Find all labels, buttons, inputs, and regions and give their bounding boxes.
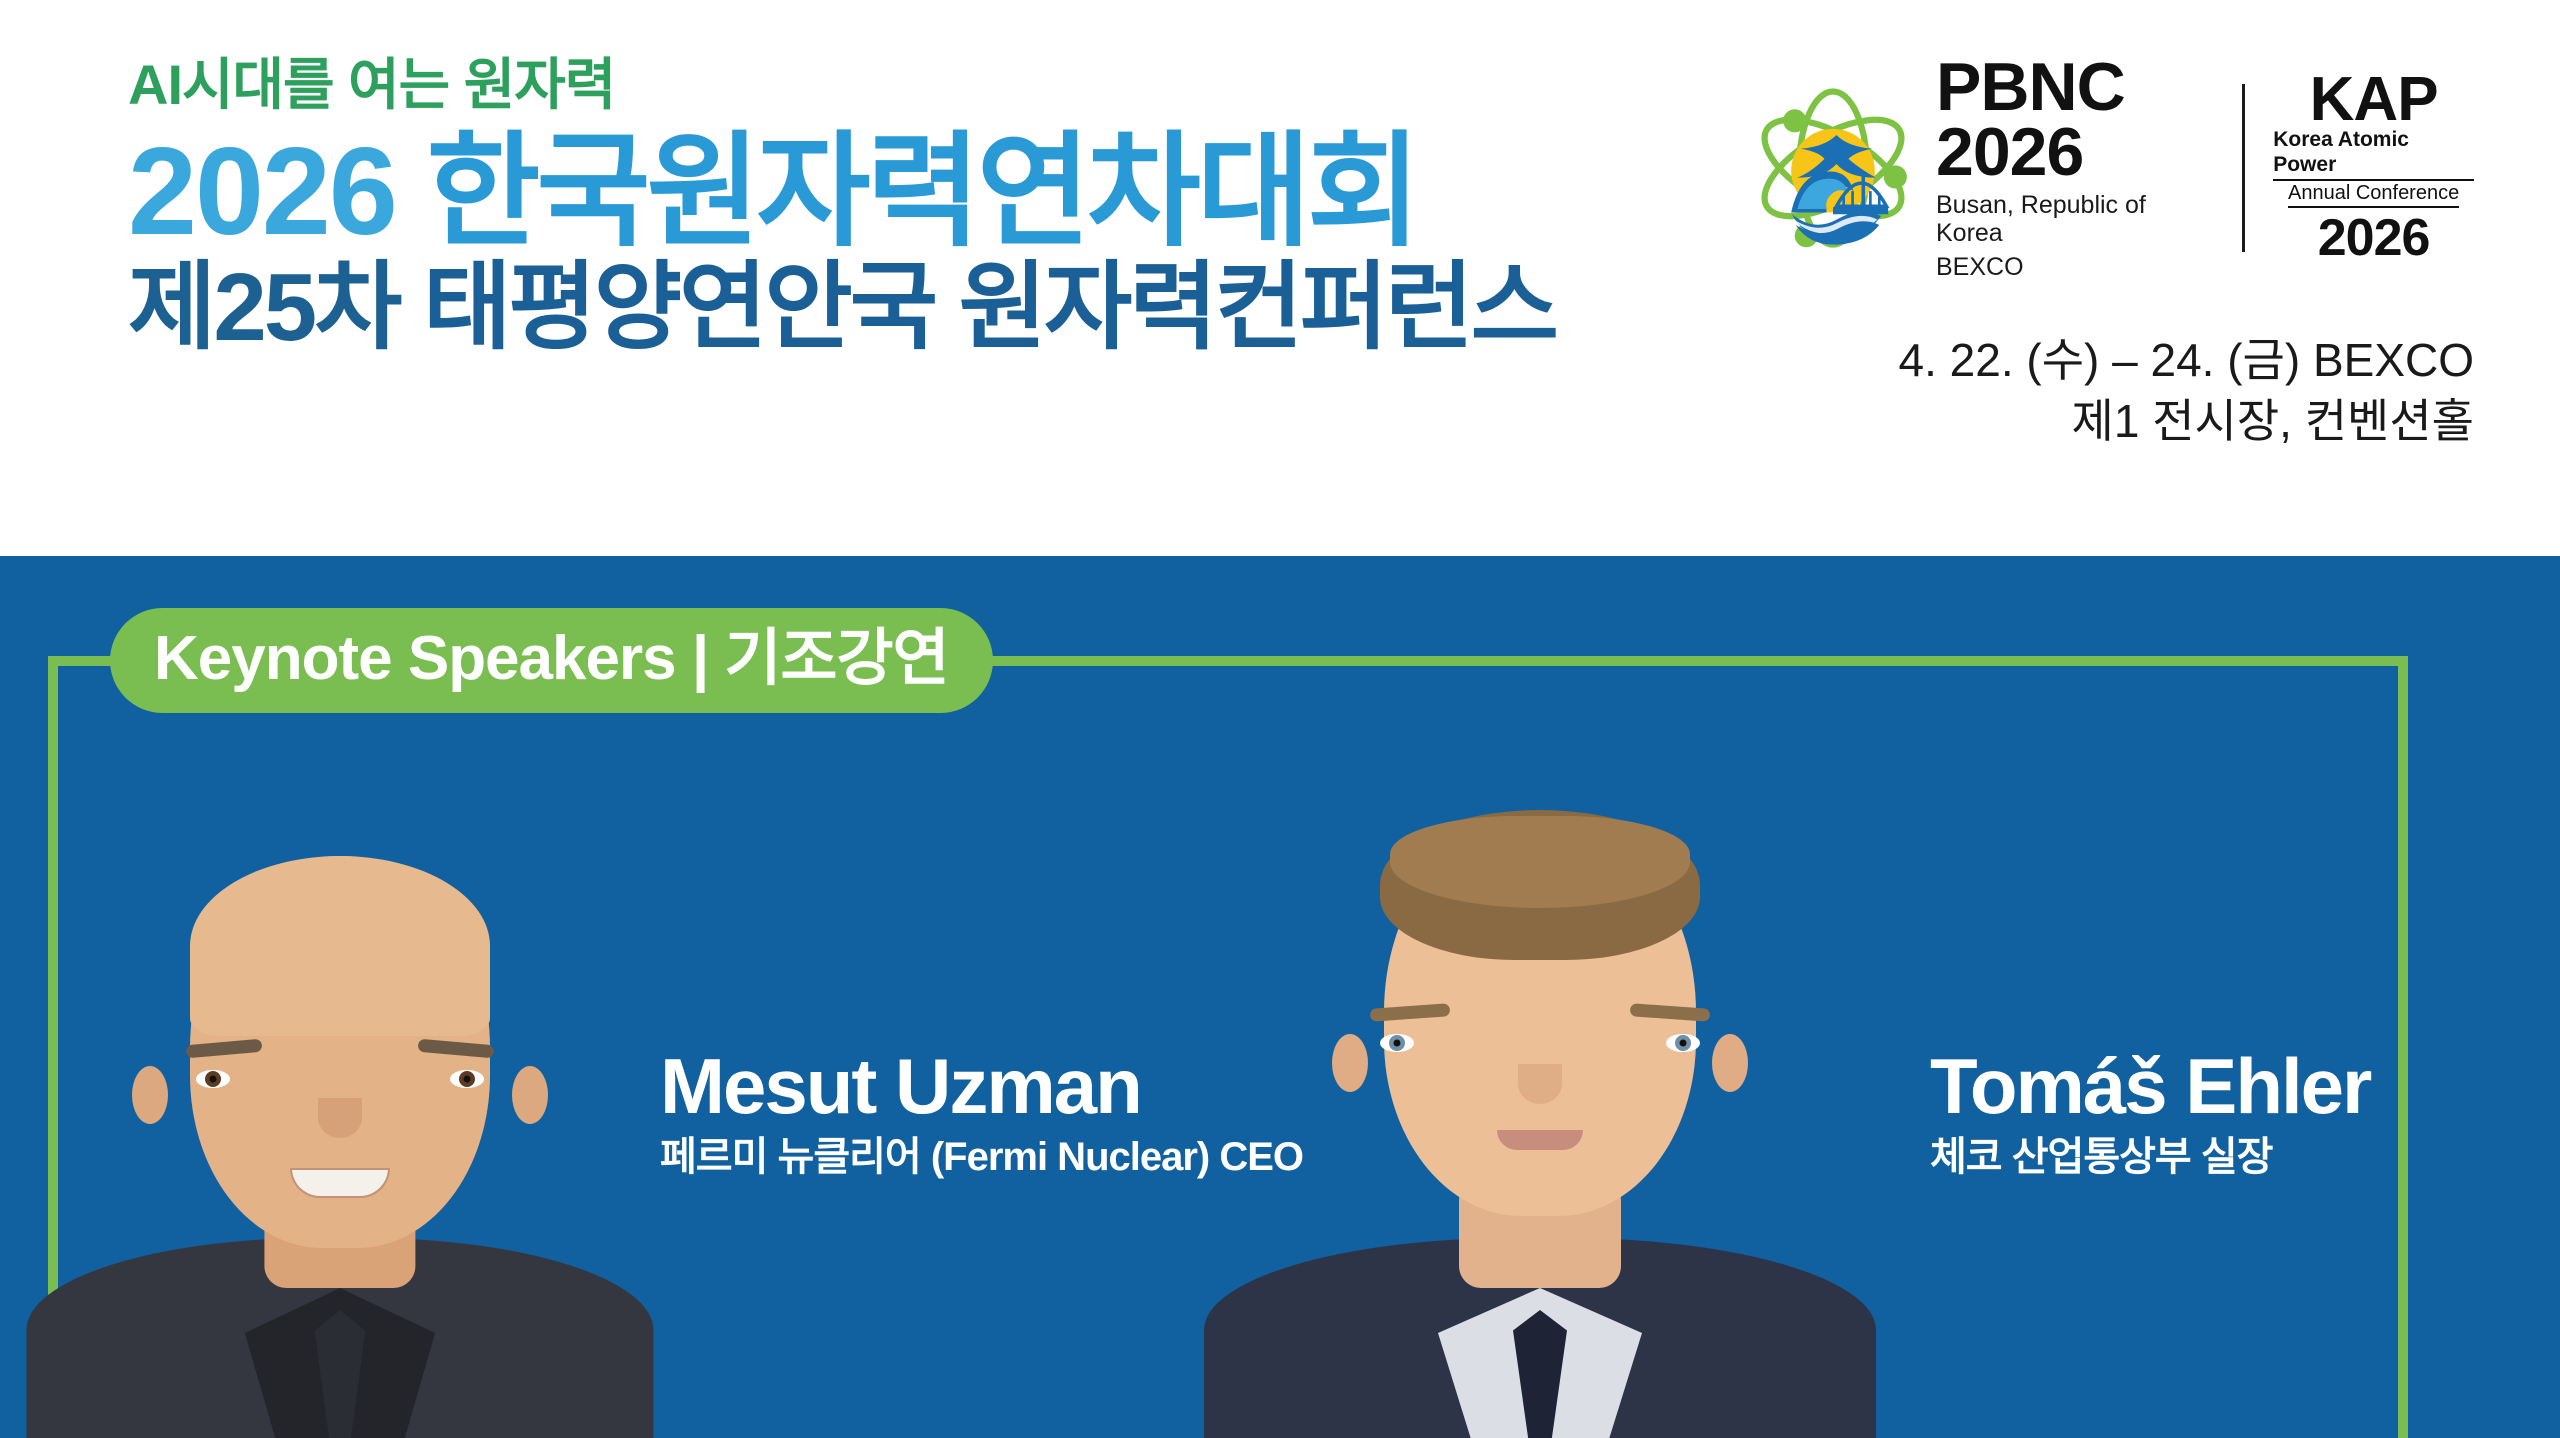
kap-logo: KAP Korea Atomic Power Annual Conference… [2273,72,2474,263]
pbnc-year: 2026 [1936,120,2214,185]
keynote-panel: Keynote Speakers | 기조강연 [0,556,2560,1438]
conference-banner: AI시대를 여는 원자력 2026 한국원자력연차대회 제25차 태평양연안국 … [0,0,2560,1438]
keynote-badge: Keynote Speakers | 기조강연 [110,608,993,713]
title-main-korean: 한국원자력연차대회 [426,123,1417,261]
kap-subtitle-line2: Annual Conference [2288,181,2459,208]
banner-header: AI시대를 여는 원자력 2026 한국원자력연차대회 제25차 태평양연안국 … [0,0,2560,556]
pbnc-location-line2: BEXCO [1936,253,2214,281]
logo-block: PBNC 2026 Busan, Republic of Korea BEXCO… [1744,74,2474,262]
page-subtitle: 제25차 태평양연안국 원자력컨퍼런스 [128,260,1556,356]
pbnc-text-group: PBNC 2026 Busan, Republic of Korea BEXCO [1936,55,2214,282]
speaker-1-name: Mesut Uzman [660,1046,1303,1128]
page-title: 2026 한국원자력연차대회 [128,130,1556,254]
kap-year: 2026 [2318,212,2430,264]
title-ordinal: 제25차 [128,254,399,361]
kap-mark: KAP [2310,72,2438,128]
speaker-2-name: Tomáš Ehler [1930,1046,2370,1128]
event-info: 4. 22. (수) – 24. (금) BEXCO 제1 전시장, 컨벤션홀 [1899,330,2474,451]
title-year: 2026 [128,123,396,261]
speaker-1-role: 페르미 뉴클리어 (Fermi Nuclear) CEO [660,1134,1303,1180]
speaker-photo-1 [60,798,620,1438]
event-venue: 제1 전시장, 컨벤션홀 [1899,391,2474,452]
kap-subtitle-line1: Korea Atomic Power [2273,128,2474,181]
speaker-2-role: 체코 산업통상부 실장 [1930,1134,2370,1180]
pbnc-location-line1: Busan, Republic of Korea [1936,191,2214,247]
title-conference: 태평양연안국 원자력컨퍼런스 [423,254,1556,361]
logo-divider [2242,84,2245,252]
logo-row: PBNC 2026 Busan, Republic of Korea BEXCO… [1744,74,2474,262]
tagline: AI시대를 여는 원자력 [128,54,1556,116]
speaker-photo-2 [1240,738,1840,1438]
speaker-portrait-tomas-ehler [1240,738,1840,1438]
speaker-portrait-mesut-uzman [60,798,620,1438]
atom-busan-bridge-seagull-logo-icon [1744,79,1922,257]
speaker-1-text: Mesut Uzman 페르미 뉴클리어 (Fermi Nuclear) CEO [660,1046,1303,1180]
header-title-group: AI시대를 여는 원자력 2026 한국원자력연차대회 제25차 태평양연안국 … [128,54,1556,356]
pbnc-name: PBNC [1936,55,2214,120]
event-date: 4. 22. (수) – 24. (금) BEXCO [1899,330,2474,391]
speaker-2-text: Tomáš Ehler 체코 산업통상부 실장 [1930,1046,2370,1180]
